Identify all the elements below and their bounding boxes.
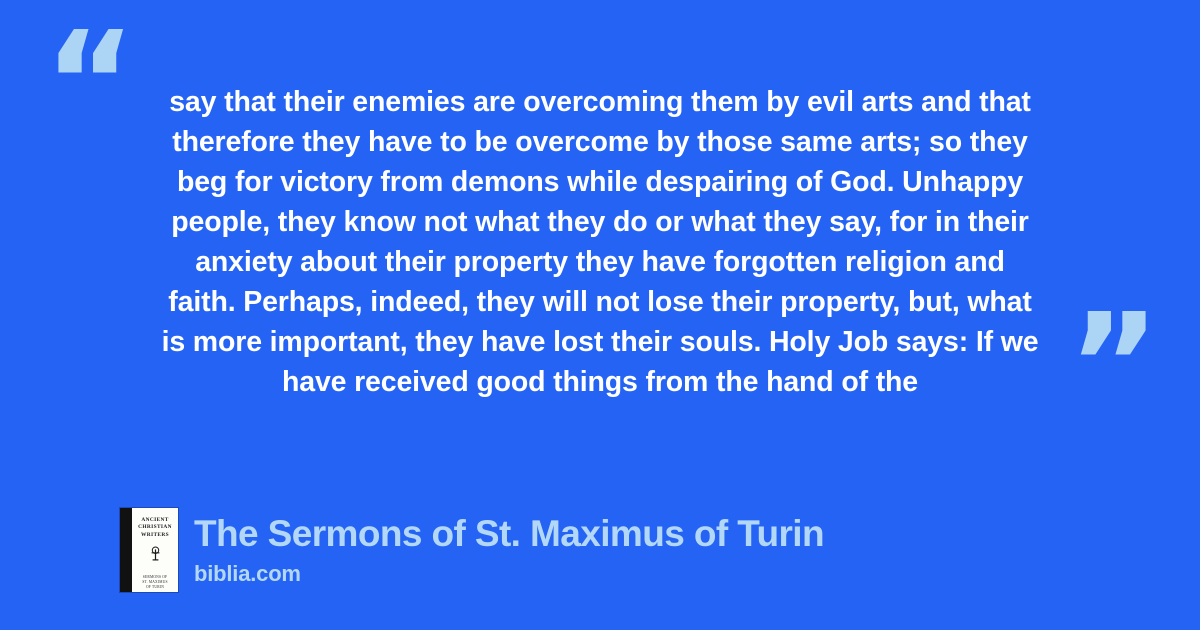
book-series-line: ANCIENT	[141, 517, 168, 524]
site-name: biblia.com	[194, 560, 824, 588]
quote-line: is more important, they have lost their …	[110, 322, 1090, 362]
quote-line: have received good things from the hand …	[110, 362, 1090, 402]
quote-card: “ say that their enemies are overcoming …	[0, 0, 1200, 450]
book-series-line: WRITERS	[141, 532, 169, 539]
quote-line: anxiety about their property they have f…	[110, 242, 1090, 282]
footer-text-block: The Sermons of St. Maximus of Turin bibl…	[194, 512, 824, 588]
quote-line: therefore they have to be overcome by th…	[110, 122, 1090, 162]
book-spine	[120, 508, 132, 592]
book-series-line: CHRISTIAN	[138, 524, 172, 531]
quote-line: faith. Perhaps, indeed, they will not lo…	[110, 282, 1090, 322]
book-cover-face: ANCIENT CHRISTIAN WRITERS SERMONS OF ST.…	[132, 508, 178, 592]
quote-close-icon: ”	[1068, 296, 1156, 436]
cross-emblem-icon	[149, 546, 162, 566]
book-subtitle-line: OF TURIN	[146, 585, 164, 590]
book-cover-thumbnail: ANCIENT CHRISTIAN WRITERS SERMONS OF ST.…	[120, 508, 178, 592]
quote-line: people, they know not what they do or wh…	[110, 202, 1090, 242]
book-title: The Sermons of St. Maximus of Turin	[194, 512, 824, 556]
quote-line: say that their enemies are overcoming th…	[110, 82, 1090, 122]
quote-line: beg for victory from demons while despai…	[110, 162, 1090, 202]
quote-text: say that their enemies are overcoming th…	[110, 82, 1090, 402]
footer-attribution: ANCIENT CHRISTIAN WRITERS SERMONS OF ST.…	[120, 508, 824, 592]
